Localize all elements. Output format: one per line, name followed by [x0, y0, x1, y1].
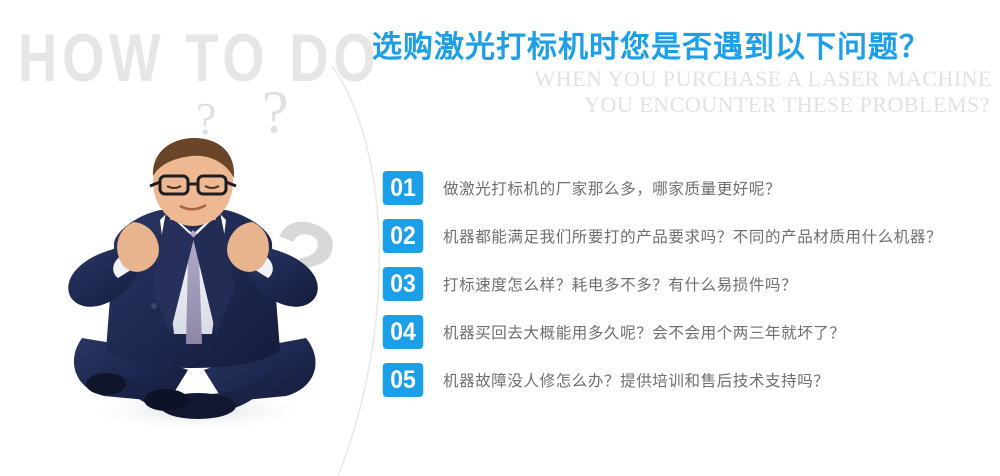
- item-number-badge: 02: [383, 219, 423, 253]
- banner-canvas: HOW TO DO ? ? ?: [0, 0, 1000, 476]
- item-text: 机器买回去大概能用多久呢？会不会用个两三年就坏了？: [443, 321, 846, 343]
- list-item: 05 机器故障没人修怎么办？提供培训和售后技术支持吗？: [381, 356, 996, 404]
- list-item: 02 机器都能满足我们所要打的产品要求吗？不同的产品材质用什么机器？: [381, 212, 996, 260]
- question-list: 01 做激光打标机的厂家那么多，哪家质量更好呢？ 02 机器都能满足我们所要打的…: [381, 164, 996, 404]
- item-text: 打标速度怎么样？耗电多不多？有什么易损件吗？: [443, 273, 797, 295]
- question-mark-icon-medium: ?: [262, 82, 289, 142]
- item-text: 机器故障没人修怎么办？提供培训和售后技术支持吗？: [443, 369, 829, 391]
- list-item: 01 做激光打标机的厂家那么多，哪家质量更好呢？: [381, 164, 996, 212]
- page-subtitle: WHEN YOU PURCHASE A LASER MACHINE YOU EN…: [372, 66, 992, 118]
- item-number-badge: 04: [383, 315, 423, 349]
- watermark-how-to-do: HOW TO DO: [18, 24, 381, 92]
- list-item: 04 机器买回去大概能用多久呢？会不会用个两三年就坏了？: [381, 308, 996, 356]
- question-mark-icon-small: ?: [196, 96, 216, 142]
- item-number-badge: 03: [383, 267, 423, 301]
- item-text: 做激光打标机的厂家那么多，哪家质量更好呢？: [443, 177, 781, 199]
- businessman-photo: [48, 138, 338, 434]
- page-title: 选购激光打标机时您是否遇到以下问题？: [372, 22, 930, 66]
- subtitle-line-1: WHEN YOU PURCHASE A LASER MACHINE: [372, 66, 992, 92]
- item-number-badge: 01: [383, 171, 423, 205]
- item-number-badge: 05: [383, 363, 423, 397]
- item-text: 机器都能满足我们所要打的产品要求吗？不同的产品材质用什么机器？: [443, 225, 942, 247]
- subtitle-line-2: YOU ENCOUNTER THESE PROBLEMS?: [372, 92, 992, 118]
- list-item: 03 打标速度怎么样？耗电多不多？有什么易损件吗？: [381, 260, 996, 308]
